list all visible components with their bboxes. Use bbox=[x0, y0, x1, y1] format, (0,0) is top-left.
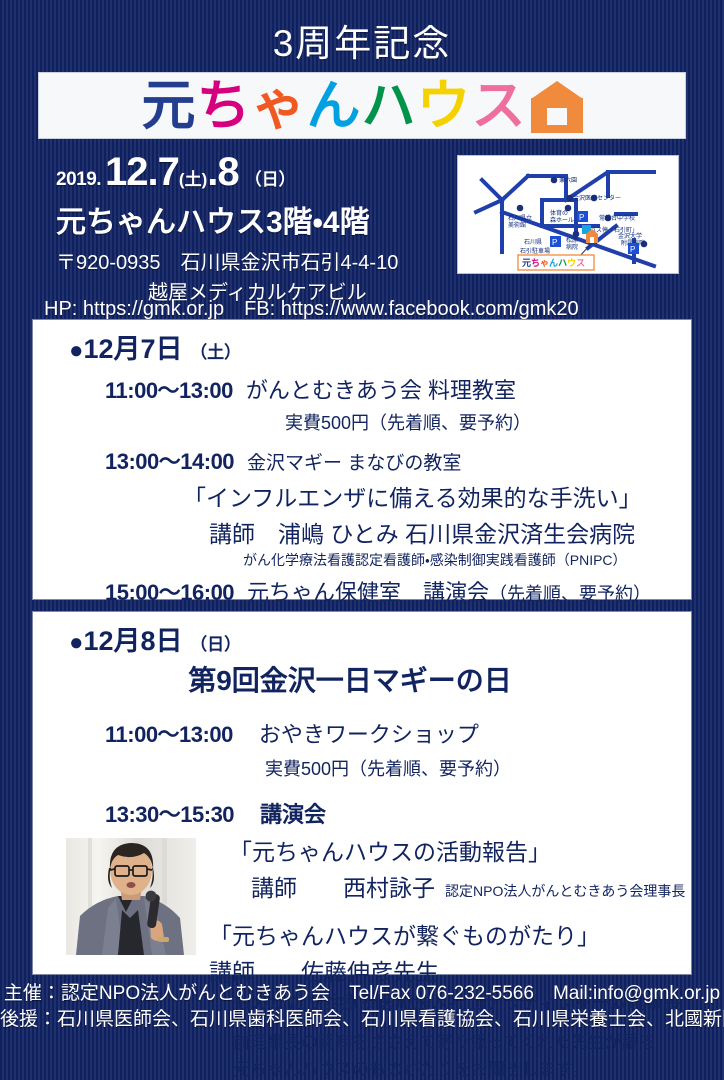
day1-event-2-credential: がん化学療法看護認定看護師・感染制御実践看護師（PNIPC） bbox=[33, 550, 691, 570]
svg-text:体育の: 体育の bbox=[550, 209, 568, 217]
svg-text:石引駐車場: 石引駐車場 bbox=[520, 247, 550, 255]
bullet-icon: ● bbox=[69, 629, 84, 656]
logo-banner: 元 ち ゃ ん ハ ウ ス bbox=[38, 72, 686, 139]
event-date-1: 12.7 bbox=[105, 150, 179, 195]
event-year: 2019. bbox=[56, 169, 101, 191]
svg-text:美術館: 美術館 bbox=[508, 221, 526, 229]
event-date-2: 8 bbox=[217, 150, 238, 195]
day1-event-3-time: 15:00〜16:00 bbox=[105, 575, 234, 607]
logo-char-4: ん bbox=[307, 79, 360, 133]
logo-char-7: ス bbox=[472, 79, 525, 133]
day1-event-1-time: 11:00〜13:00 bbox=[105, 373, 233, 405]
event-dow-1: (土) bbox=[179, 165, 207, 190]
map-home-label: 元ちゃんハウス bbox=[518, 255, 594, 270]
bullet-icon: ● bbox=[69, 337, 84, 364]
logo-char-6: ウ bbox=[417, 79, 470, 133]
day1-event-2-lecturer: 講師 浦嶋 ひとみ 石川県金沢済生会病院 bbox=[33, 515, 691, 549]
day2-event-2-time: 13:30〜15:30 bbox=[105, 797, 234, 829]
schedule-panel-day2: ●12月8日 （日） 第9回金沢一日マギーの日 11:00〜13:00 おやきワ… bbox=[32, 611, 692, 975]
schedule-panel-day1: ●12月7日 （土） 11:00〜13:00 がんとむきあう会 料理教室 実費5… bbox=[32, 319, 692, 600]
event-postal-address: 〒920-0935 石川県金沢市石引4-4-10 bbox=[56, 246, 450, 275]
day2-event-1-title: おやきワークショップ bbox=[259, 717, 479, 749]
event-date-sep: . bbox=[207, 150, 217, 195]
day1-event-3-note: （先着順、要予約） bbox=[489, 580, 651, 606]
logo-char-2: ち bbox=[197, 79, 250, 133]
event-dow-2: （日） bbox=[245, 165, 296, 190]
house-icon bbox=[531, 81, 583, 133]
svg-text:元ちゃんハウス: 元ちゃんハウス bbox=[522, 258, 585, 268]
svg-text:森ホール: 森ホール bbox=[550, 216, 574, 224]
featured-description-line2: 元ちゃんハウスのものがたりをお聞きします。 bbox=[209, 1055, 691, 1080]
svg-text:石川県立: 石川県立 bbox=[508, 214, 532, 222]
day2-event-2-lecturer: 講師 西村詠子 bbox=[251, 869, 435, 903]
day1-event-3-title: 元ちゃん保健室 講演会 bbox=[247, 575, 489, 607]
svg-text:病院: 病院 bbox=[566, 243, 578, 251]
logo-char-5: ハ bbox=[362, 79, 415, 133]
day1-date: 12月7日 bbox=[84, 334, 183, 364]
day1-heading: ●12月7日 （土） bbox=[33, 320, 691, 366]
day2-event-1-note: 実費500円（先着順、要予約） bbox=[33, 755, 691, 781]
event-date-line: 2019. 12.7 (土) . 8 （日） bbox=[56, 150, 450, 195]
day2-event-2: 13:30〜15:30 講演会 bbox=[33, 797, 691, 829]
svg-text:松原: 松原 bbox=[566, 236, 578, 244]
day2-heading: ●12月8日 （日） bbox=[33, 612, 691, 658]
svg-text:P: P bbox=[630, 245, 635, 254]
event-venue: 元ちゃんハウス3階・4階 bbox=[56, 197, 450, 241]
day1-event-1-note: 実費500円（先着順、要予約） bbox=[33, 409, 691, 435]
svg-text:P: P bbox=[579, 213, 584, 222]
svg-text:P: P bbox=[552, 238, 557, 247]
logo-text: 元 ち ゃ ん ハ ウ ス bbox=[142, 79, 583, 133]
location-map[interactable]: 兼六園 金沢医療センター 石川県立 美術館 体育の 森ホール 常磐台中学校 バス… bbox=[457, 155, 679, 274]
logo-char-1: 元 bbox=[142, 79, 195, 133]
svg-text:バス停「石引町」: バス停「石引町」 bbox=[590, 226, 638, 234]
day1-event-1: 11:00〜13:00 がんとむきあう会 料理教室 bbox=[33, 373, 691, 405]
svg-text:兼六園: 兼六園 bbox=[559, 176, 577, 184]
footer-supporters: 後援：石川県医師会、石川県歯科医師会、石川県看護協会、石川県栄養士会、北國新聞社 bbox=[0, 1007, 724, 1033]
day2-event-1: 11:00〜13:00 おやきワークショップ bbox=[33, 717, 691, 749]
day2-event-1-time: 11:00〜13:00 bbox=[105, 717, 233, 749]
day1-dow: （土） bbox=[190, 343, 241, 362]
logo-char-3: ゃ bbox=[252, 79, 305, 133]
svg-text:金沢医療センター: 金沢医療センター bbox=[573, 194, 621, 202]
day2-event-2-title: 講演会 bbox=[260, 797, 326, 829]
day1-event-2: 13:00〜14:00 金沢マギー まなびの教室 bbox=[33, 444, 691, 476]
featured-quote: 「元ちゃんハウスが繋ぐものがたり」 bbox=[209, 917, 691, 951]
speaker-photo bbox=[66, 838, 196, 955]
svg-text:常磐台中学校: 常磐台中学校 bbox=[599, 214, 635, 222]
web-links[interactable]: HP: https://gmk.or.jp FB: https://www.fa… bbox=[44, 292, 579, 321]
day1-event-2-time: 13:00〜14:00 bbox=[105, 444, 234, 476]
day1-event-2-quote: 「インフルエンザに備える効果的な手洗い」 bbox=[33, 479, 691, 513]
footer-organizer: 主催：認定NPO法人がんとむきあう会 Tel/Fax 076-232-5566 … bbox=[0, 981, 724, 1007]
day2-subtitle: 第9回金沢一日マギーの日 bbox=[33, 659, 691, 699]
day1-event-2-title: 金沢マギー まなびの教室 bbox=[247, 448, 461, 475]
svg-text:金沢大学: 金沢大学 bbox=[618, 232, 642, 240]
day2-dow: （日） bbox=[190, 635, 241, 654]
day1-event-3: 15:00〜16:00 元ちゃん保健室 講演会 （先着順、要予約） bbox=[33, 575, 691, 607]
day2-event-2-credential: 認定NPO法人がんとむきあう会理事長 bbox=[445, 881, 685, 901]
day1-event-1-title: がんとむきあう会 料理教室 bbox=[246, 373, 516, 405]
page-title: 3周年記念 bbox=[0, 0, 724, 67]
svg-text:石川県: 石川県 bbox=[524, 239, 542, 246]
event-info: 2019. 12.7 (土) . 8 （日） 元ちゃんハウス3階・4階 〒920… bbox=[0, 150, 450, 305]
day2-date: 12月8日 bbox=[84, 626, 183, 656]
footer: 主催：認定NPO法人がんとむきあう会 Tel/Fax 076-232-5566 … bbox=[0, 981, 724, 1032]
